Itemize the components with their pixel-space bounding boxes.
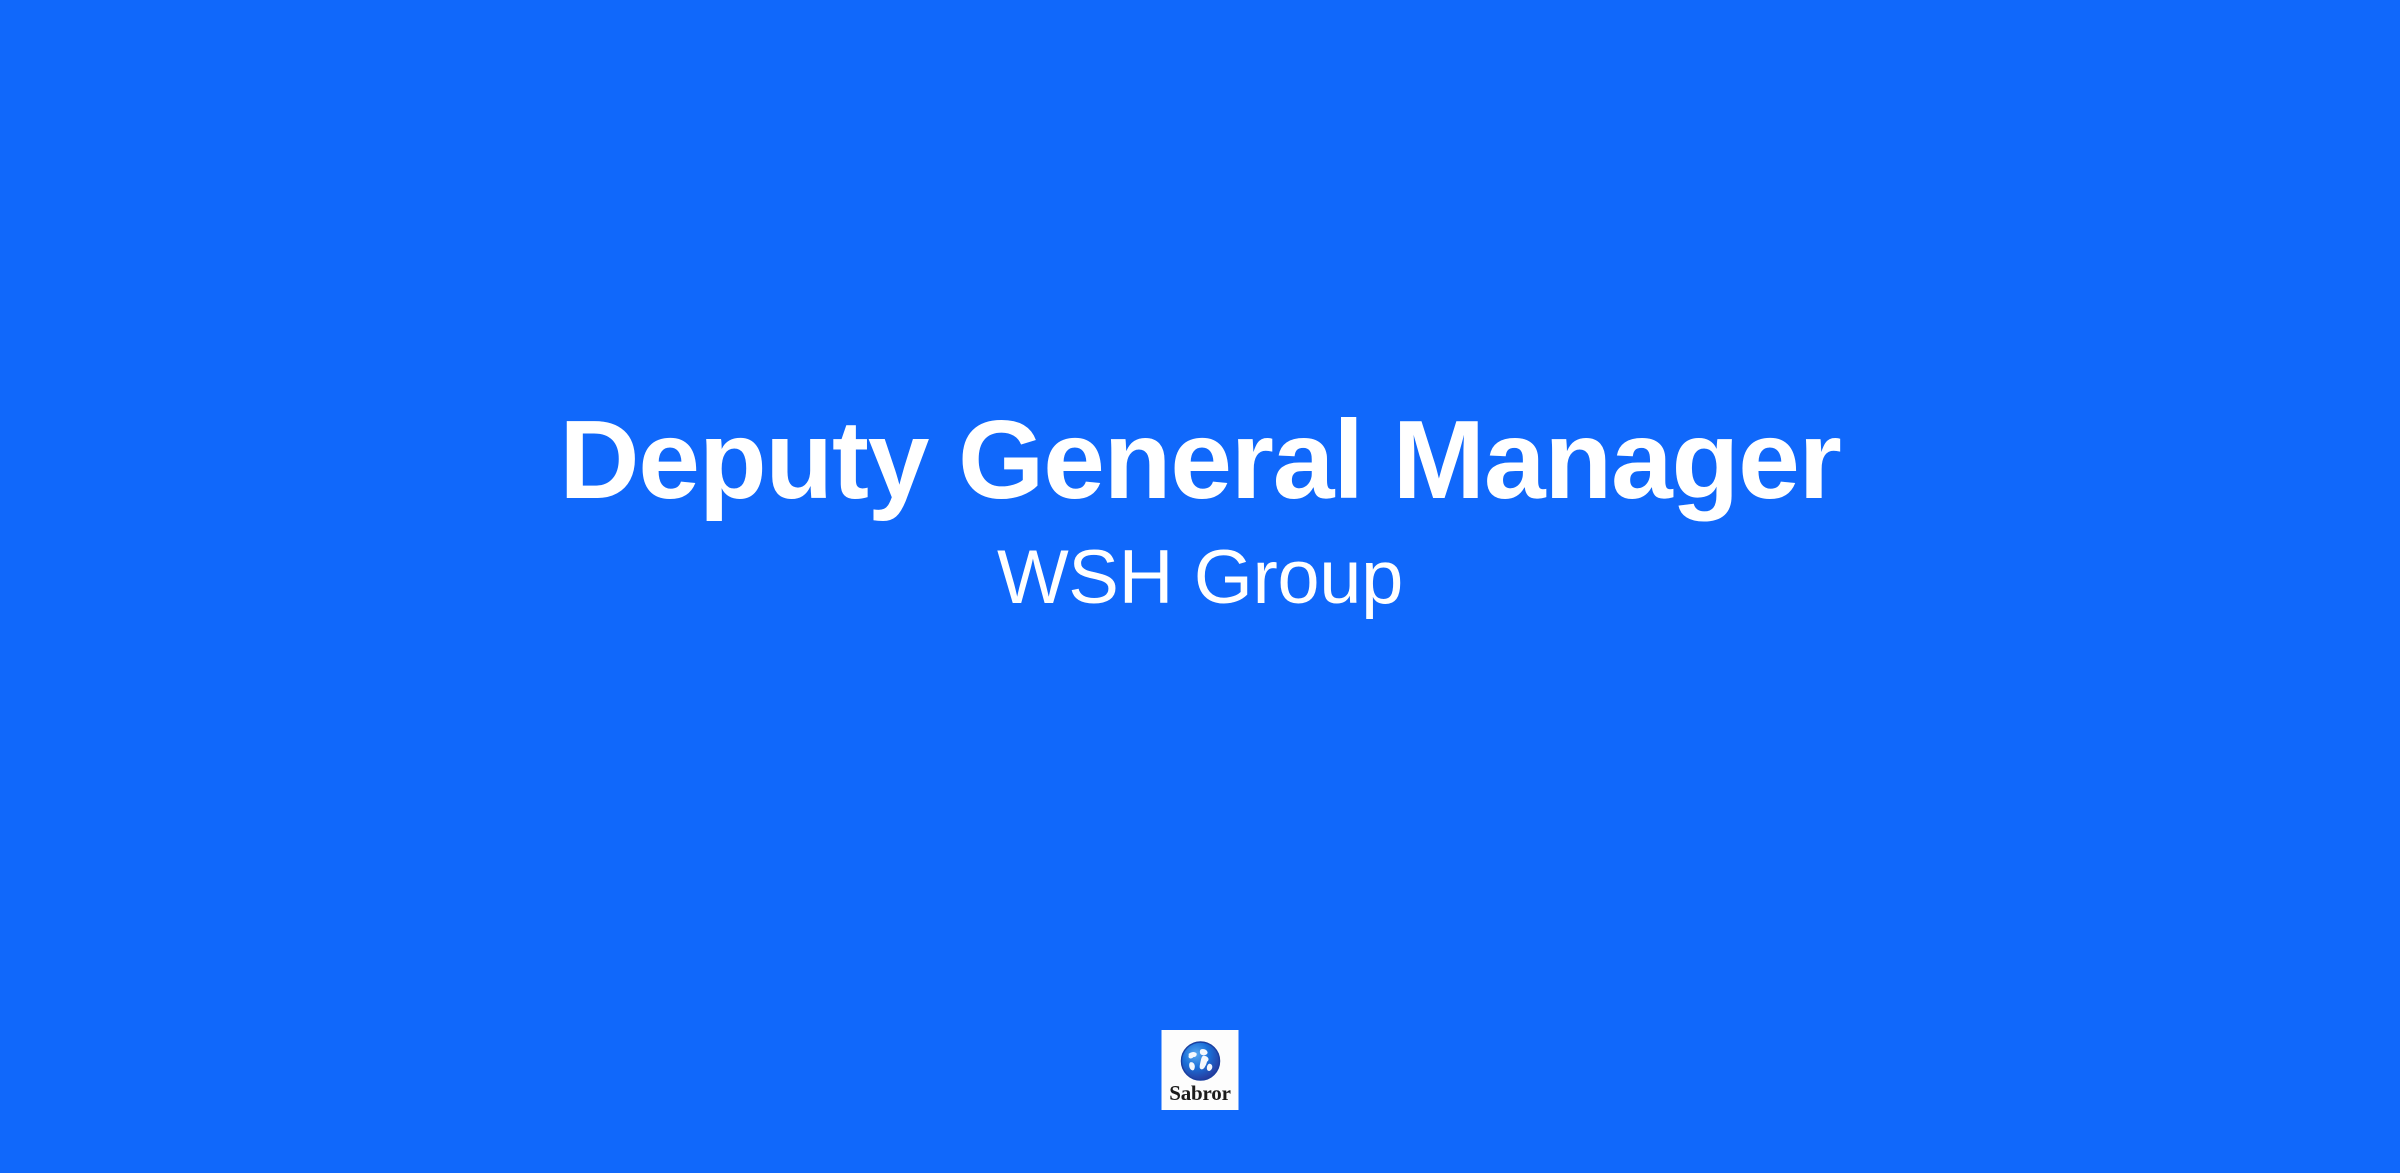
globe-icon <box>1179 1040 1221 1082</box>
page-subtitle: WSH Group <box>997 534 1403 621</box>
page-title: Deputy General Manager <box>559 398 1840 522</box>
brand-logo: Sabror <box>1162 1030 1239 1110</box>
brand-wordmark: Sabror <box>1169 1083 1230 1104</box>
title-block: Deputy General Manager WSH Group <box>0 0 2400 1173</box>
title-slide: Deputy General Manager WSH Group <box>0 0 2400 1173</box>
